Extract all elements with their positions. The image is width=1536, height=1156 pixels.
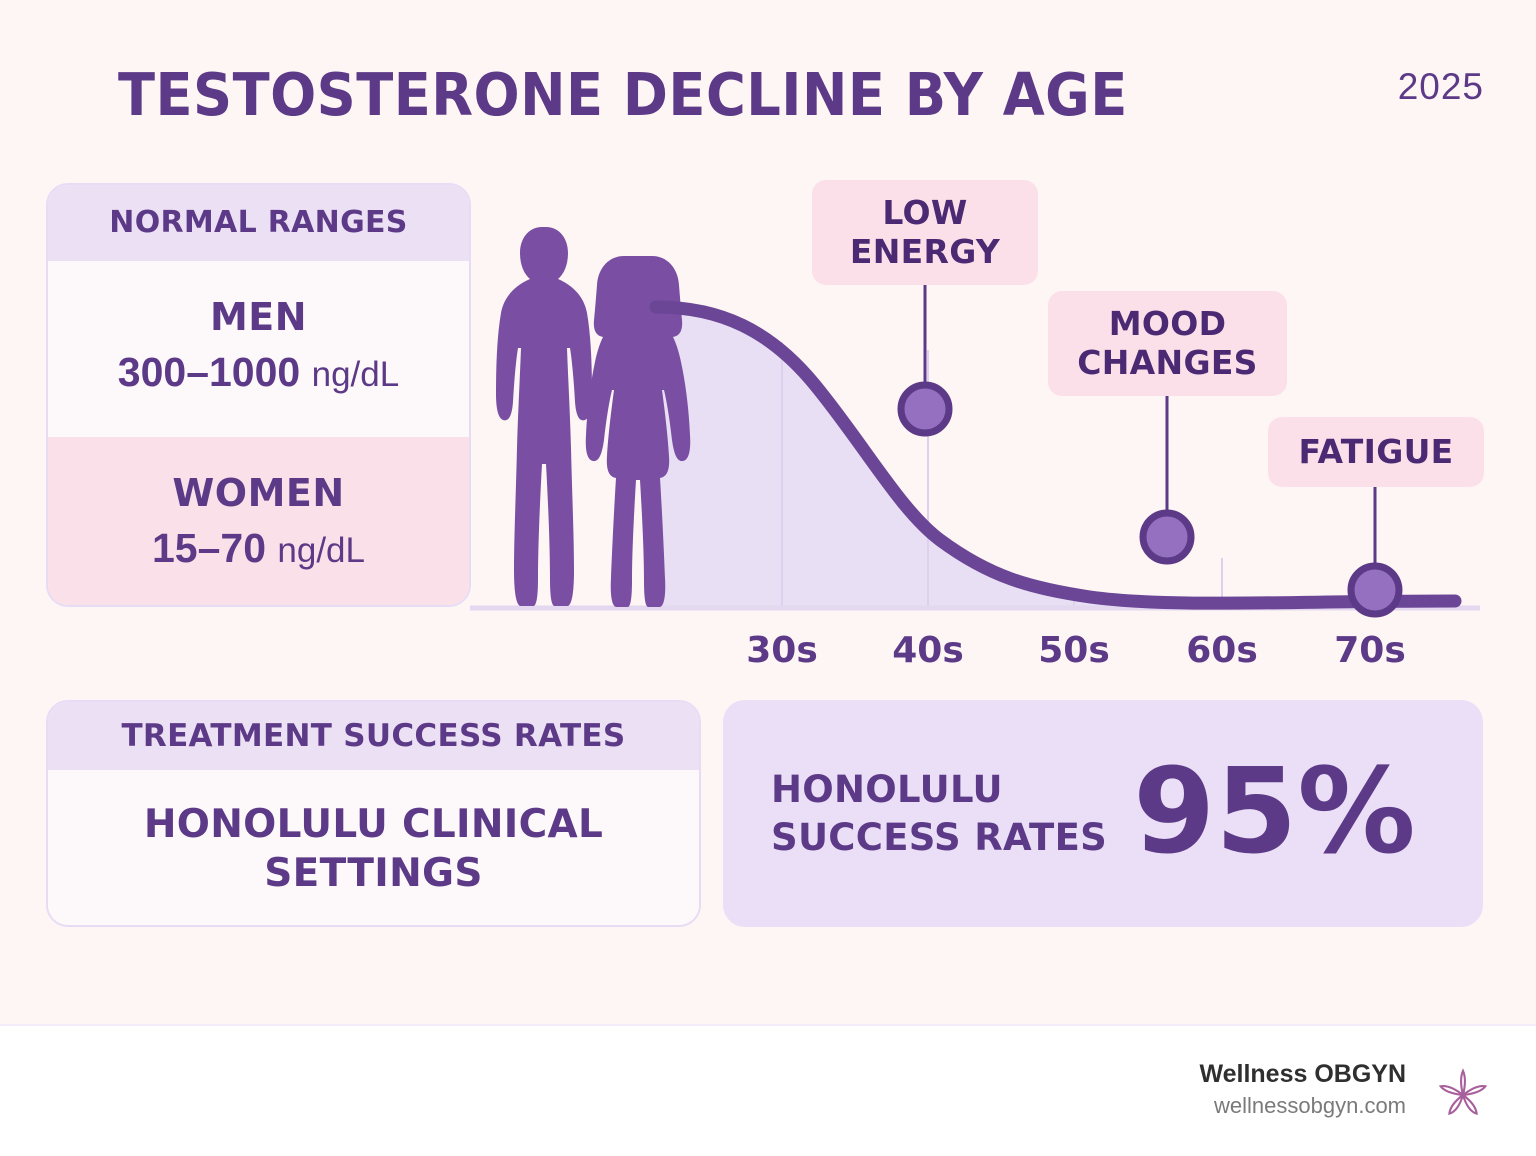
range-number-men: 300–1000 — [118, 349, 300, 395]
range-row-men: MEN 300–1000 ng/dL — [48, 261, 469, 437]
brand-name: Wellness OBGYN — [1199, 1060, 1406, 1089]
infographic-poster: TESTOSTERONE DECLINE BY AGE 2025 NORMAL … — [0, 0, 1536, 1154]
marker-mood-changes — [1143, 513, 1191, 561]
honolulu-success-line1: HONOLULU — [771, 766, 1107, 813]
treatment-heading: TREATMENT SUCCESS RATES — [48, 702, 699, 770]
marker-low-energy — [901, 385, 949, 433]
callout-fatigue-label: FATIGUE — [1298, 433, 1453, 471]
axis-tick-40s: 40s — [892, 630, 964, 671]
marker-fatigue — [1351, 566, 1399, 614]
callout-fatigue[interactable]: FATIGUE — [1268, 417, 1484, 487]
honolulu-success-label: HONOLULU SUCCESS RATES — [771, 766, 1107, 861]
callout-low-energy-label: LOW ENERGY — [812, 194, 1038, 271]
male-silhouette — [496, 227, 592, 606]
flower-icon — [1432, 1064, 1494, 1126]
range-value-men: 300–1000 ng/dL — [48, 339, 469, 396]
footer-bar: Wellness OBGYN wellnessobgyn.com — [0, 1024, 1536, 1156]
axis-tick-70s: 70s — [1334, 630, 1406, 671]
treatment-body: HONOLULU CLINICAL SETTINGS — [48, 770, 699, 927]
range-unit-men: ng/dL — [312, 355, 400, 394]
axis-tick-60s: 60s — [1186, 630, 1258, 671]
honolulu-success-card: HONOLULU SUCCESS RATES 95% — [723, 700, 1483, 927]
treatment-success-card: TREATMENT SUCCESS RATES HONOLULU CLINICA… — [46, 700, 701, 927]
honolulu-success-value: 95% — [1133, 752, 1415, 870]
callout-mood-changes-label: MOOD CHANGES — [1048, 305, 1287, 382]
chart-axis-labels: 30s 40s 50s 60s 70s — [470, 630, 1490, 680]
year-label: 2025 — [1398, 66, 1484, 108]
range-value-women: 15–70 ng/dL — [48, 515, 469, 572]
brand-url: wellnessobgyn.com — [1199, 1093, 1406, 1119]
range-label-men: MEN — [48, 261, 469, 339]
brand-block: Wellness OBGYN wellnessobgyn.com — [1199, 1060, 1406, 1119]
range-number-women: 15–70 — [152, 525, 266, 571]
callout-mood-changes[interactable]: MOOD CHANGES — [1048, 291, 1287, 396]
normal-ranges-card: NORMAL RANGES MEN 300–1000 ng/dL WOMEN 1… — [46, 183, 471, 607]
callout-low-energy[interactable]: LOW ENERGY — [812, 180, 1038, 285]
axis-tick-30s: 30s — [746, 630, 818, 671]
normal-ranges-heading: NORMAL RANGES — [48, 185, 469, 261]
range-row-women: WOMEN 15–70 ng/dL — [48, 437, 469, 607]
page-title: TESTOSTERONE DECLINE BY AGE — [118, 60, 1128, 129]
honolulu-success-line2: SUCCESS RATES — [771, 814, 1107, 861]
range-label-women: WOMEN — [48, 437, 469, 515]
axis-tick-50s: 50s — [1038, 630, 1110, 671]
range-unit-women: ng/dL — [277, 531, 365, 570]
